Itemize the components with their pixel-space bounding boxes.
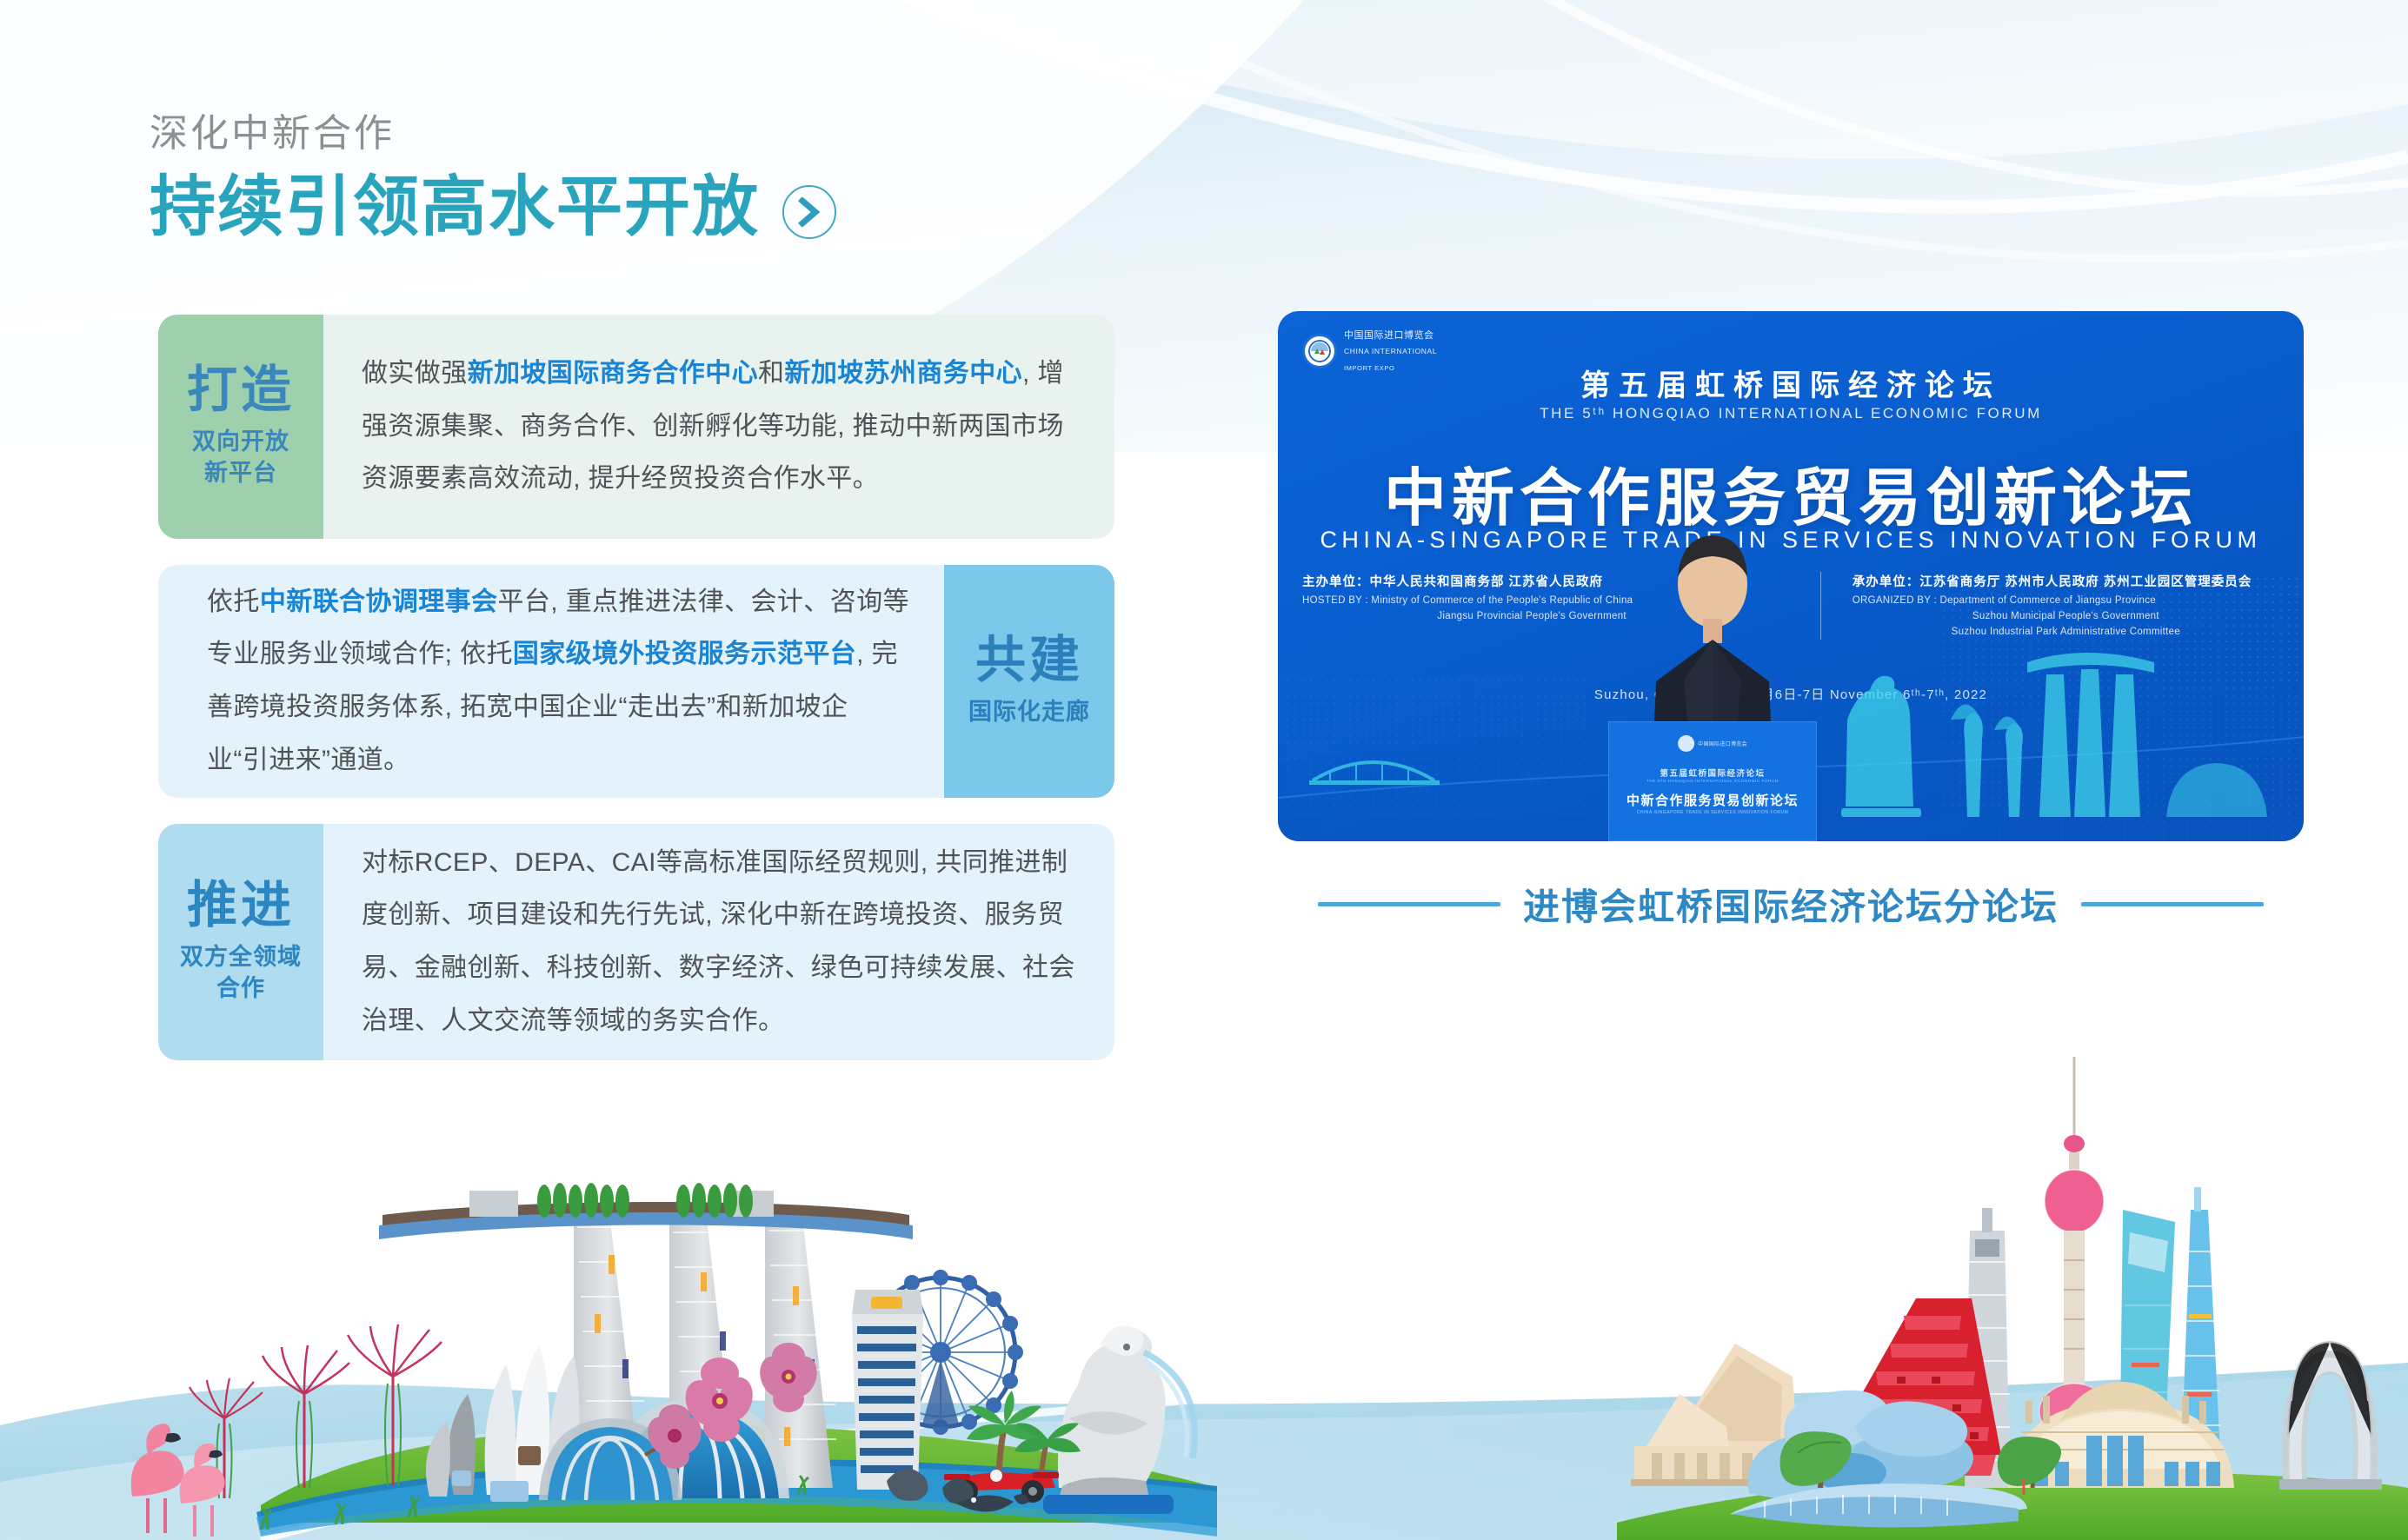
organizers-en-line3: Suzhou Industrial Park Administrative Co… <box>1853 625 2279 641</box>
ciie-logo-line2: CHINA INTERNATIONAL <box>1344 347 1437 355</box>
ciie-logo-line1: 中国国际进口博览会 <box>1344 330 1434 341</box>
podium-line-en2: CHINA-SINGAPORE TRADE IN SERVICES INNOVA… <box>1608 810 1817 815</box>
podium-badge-icon <box>1678 735 1694 752</box>
card-paragraph: 做实做强新加坡国际商务合作中心和新加坡苏州商务中心, 增强资源集聚、商务合作、创… <box>362 348 1080 506</box>
banner-subtitle-en: THE 5ᵗʰ HONGQIAO INTERNATIONAL ECONOMIC … <box>1278 405 2304 422</box>
gate-of-the-orient <box>2279 1342 2382 1490</box>
banner-organizers-col: 承办单位：江苏省商务厅 苏州市人民政府 苏州工业园区管理委员会 ORGANIZE… <box>1820 572 2279 640</box>
caption-text: 进博会虹桥国际经济论坛分论坛 <box>1523 878 2059 931</box>
card-tab-title: 共建 <box>975 634 1083 687</box>
forum-banner-image[interactable]: 中国国际进口博览会 CHINA INTERNATIONAL IMPORT EXP… <box>1278 311 2304 841</box>
podium-logo-text: 中国国际进口博览会 <box>1698 740 1747 747</box>
podium-line-en1: THE 5TH HONGQIAO INTERNATIONAL ECONOMIC … <box>1608 779 1817 783</box>
organizers-en-line1: ORGANIZED BY : Department of Commerce of… <box>1853 594 2279 609</box>
shanghai-suzhou-skyline <box>1617 1057 2408 1540</box>
card-paragraph: 依托中新联合协调理事会平台, 重点推进法律、会计、咨询等专业服务业领域合作; 依… <box>207 576 909 787</box>
card-build-platform[interactable]: 打造 双向开放新平台 做实做强新加坡国际商务合作中心和新加坡苏州商务中心, 增强… <box>158 315 1114 539</box>
card-tab-subtitle: 双向开放新平台 <box>192 426 289 489</box>
organizers-en-line2: Suzhou Municipal People's Government <box>1853 609 2279 625</box>
bottom-skyline-illustration <box>0 1053 2408 1540</box>
chevron-right-icon[interactable] <box>782 185 836 239</box>
podium-line-cn2: 中新合作服务贸易创新论坛 <box>1608 791 1817 809</box>
card-tab: 打造 双向开放新平台 <box>158 315 323 539</box>
page-header: 深化中新合作 持续引领高水平开放 <box>150 111 836 242</box>
card-co-build-corridor[interactable]: 共建 国际化走廊 依托中新联合协调理事会平台, 重点推进法律、会计、咨询等专业服… <box>158 565 1114 798</box>
photo-caption: 进博会虹桥国际经济论坛分论坛 <box>1278 878 2304 931</box>
caption-rule-left <box>1318 902 1500 906</box>
office-tower <box>852 1290 923 1490</box>
banner-subtitle-cn: 第五届虹桥国际经济论坛 <box>1278 362 2304 404</box>
podium-logo: 中国国际进口博览会 <box>1678 735 1747 752</box>
caption-rule-right <box>2081 902 2264 906</box>
card-paragraph: 对标RCEP、DEPA、CAI等高标准国际经贸规则, 共同推进制度创新、项目建设… <box>362 837 1080 1047</box>
cards-list: 打造 双向开放新平台 做实做强新加坡国际商务合作中心和新加坡苏州商务中心, 增强… <box>158 315 1114 1086</box>
card-body: 依托中新联合协调理事会平台, 重点推进法律、会计、咨询等专业服务业领域合作; 依… <box>158 565 944 798</box>
page-title: 持续引领高水平开放 <box>150 173 760 242</box>
card-body: 做实做强新加坡国际商务合作中心和新加坡苏州商务中心, 增强资源集聚、商务合作、创… <box>323 315 1114 539</box>
page-kicker: 深化中新合作 <box>150 111 836 157</box>
flamingos <box>131 1424 225 1537</box>
card-tab-subtitle: 双方全领域合作 <box>180 941 302 1005</box>
organizers-heading: 承办单位：江苏省商务厅 苏州市人民政府 苏州工业园区管理委员会 <box>1853 572 2279 590</box>
singapore-skyline <box>131 1183 1217 1537</box>
podium: 中国国际进口博览会 第五届虹桥国际经济论坛 THE 5TH HONGQIAO I… <box>1608 721 1817 841</box>
forum-photo-panel: 中国国际进口博览会 CHINA INTERNATIONAL IMPORT EXP… <box>1278 311 2304 841</box>
card-tab-title: 推进 <box>187 880 295 933</box>
card-tab: 推进 双方全领域合作 <box>158 824 323 1060</box>
card-tab-title: 打造 <box>187 364 295 417</box>
card-body: 对标RCEP、DEPA、CAI等高标准国际经贸规则, 共同推进制度创新、项目建设… <box>323 824 1114 1060</box>
card-advance-cooperation[interactable]: 推进 双方全领域合作 对标RCEP、DEPA、CAI等高标准国际经贸规则, 共同… <box>158 824 1114 1060</box>
card-tab-subtitle: 国际化走廊 <box>968 696 1090 727</box>
podium-line-cn1: 第五届虹桥国际经济论坛 <box>1608 767 1817 779</box>
card-tab: 共建 国际化走廊 <box>944 565 1114 798</box>
